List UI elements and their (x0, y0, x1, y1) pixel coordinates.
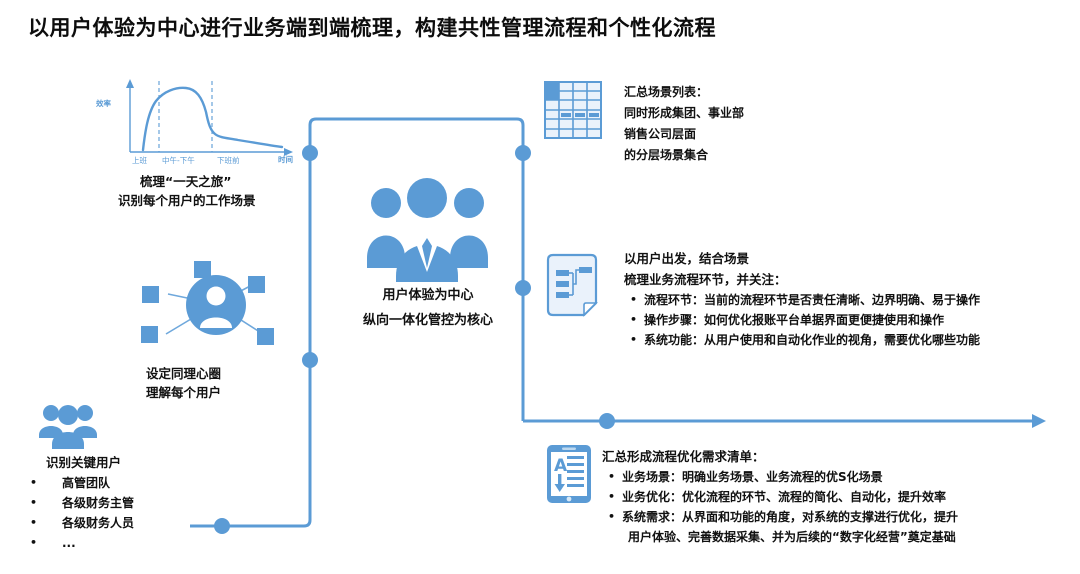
table-line-3: 的分层场景集合 (624, 145, 744, 166)
flow-item-1: 操作步骤：如何优化报账平台单据界面更便捷使用和操作 (644, 310, 944, 330)
key-user-3: ... (44, 533, 76, 553)
list-heading: 汇总形成流程优化需求清单： (602, 446, 958, 467)
node-dot-bottom (599, 413, 615, 429)
list-item-text-2: ：从界面和功能的角度，对系统的支撑进行优化，提升 (670, 507, 958, 527)
key-user-1: 各级财务主管 (44, 493, 134, 513)
bullet-icon: • (630, 330, 644, 350)
empathy-line2: 理解每个用户 (146, 383, 221, 402)
center-line2: 纵向一体化管控为核心 (330, 308, 526, 333)
node-dot-top-right (515, 145, 531, 161)
flowchart-document-icon (545, 253, 599, 321)
block-table-text: 汇总场景列表： 同时形成集团、事业部 销售公司层面 的分层场景集合 (624, 82, 744, 166)
key-users-heading: 识别关键用户 (30, 452, 134, 473)
list-item: • 操作步骤：如何优化报账平台单据界面更便捷使用和操作 (624, 310, 980, 330)
list-item: • ... (30, 533, 134, 553)
table-line-2: 销售公司层面 (624, 124, 744, 145)
empathy-caption: 设定同理心圈 理解每个用户 (146, 364, 221, 402)
team-people-icon (365, 176, 490, 288)
list-continuation: 用户体验、完善数据采集、并为后续的“数字化经营”奠定基础 (628, 527, 956, 547)
block-flow-text: 以用户出发，结合场景 梳理业务流程环节，并关注： • 流程环节：当前的流程环节是… (624, 248, 980, 350)
list-item: • 系统需求 ：从界面和功能的角度，对系统的支撑进行优化，提升 (602, 507, 958, 527)
bullet-icon: • (30, 513, 44, 533)
users-group-icon (38, 404, 98, 454)
list-item-label-1: 业务优化 (622, 487, 670, 507)
list-item: • 各级财务人员 (30, 513, 134, 533)
chart-caption-line1: 梳理“一天之旅” (118, 172, 256, 191)
list-item: • 业务场景 ：明确业务场景、业务流程的优S化场景 (602, 467, 958, 487)
list-item-label-2: 系统需求 (622, 507, 670, 527)
bullet-icon: • (30, 493, 44, 513)
efficiency-day-chart: 效率 时间 上班 中午-下午 下班前 (96, 72, 311, 167)
chart-caption: 梳理“一天之旅” 识别每个用户的工作场景 (118, 172, 256, 210)
empathy-circle-icon (126, 252, 306, 366)
empathy-line1: 设定同理心圈 (146, 364, 221, 383)
node-dot-bottom-left (214, 518, 230, 534)
spreadsheet-table-icon (544, 81, 602, 143)
bullet-icon: • (608, 487, 622, 507)
list-item: • 各级财务主管 (30, 493, 134, 513)
bullet-icon: • (30, 473, 44, 493)
list-item: • 业务优化 ：优化流程的环节、流程的简化、自动化，提升效率 (602, 487, 958, 507)
key-user-2: 各级财务人员 (44, 513, 134, 533)
chart-tick-1: 中午-下午 (162, 155, 195, 166)
center-line1: 用户体验为中心 (330, 283, 526, 308)
table-line-1: 同时形成集团、事业部 (624, 103, 744, 124)
list-item-label-0: 业务场景 (622, 467, 670, 487)
key-users-block: 识别关键用户 • 高管团队 • 各级财务主管 • 各级财务人员 • ... (30, 452, 134, 553)
flow-heading-1: 以用户出发，结合场景 (624, 248, 980, 269)
svg-text:A: A (554, 456, 568, 476)
list-item-text-1: ：优化流程的环节、流程的简化、自动化，提升效率 (670, 487, 946, 507)
bullet-icon: • (630, 290, 644, 310)
bullet-icon: • (630, 310, 644, 330)
center-caption: 用户体验为中心 纵向一体化管控为核心 (330, 283, 526, 333)
bullet-icon: • (608, 467, 622, 487)
list-item: • 流程环节：当前的流程环节是否责任清晰、边界明确、易于操作 (624, 290, 980, 310)
flow-item-2: 系统功能：从用户使用和自动化作业的视角，需要优化哪些功能 (644, 330, 980, 350)
list-item: • 系统功能：从用户使用和自动化作业的视角，需要优化哪些功能 (624, 330, 980, 350)
chart-tick-0: 上班 (132, 155, 147, 166)
chart-caption-line2: 识别每个用户的工作场景 (118, 191, 256, 210)
flow-item-0: 流程环节：当前的流程环节是否责任清晰、边界明确、易于操作 (644, 290, 980, 310)
list-item: • 高管团队 (30, 473, 134, 493)
chart-xlabel: 时间 (278, 154, 293, 165)
bullet-icon: • (608, 507, 622, 527)
bullet-icon: • (30, 533, 44, 553)
block-list-text: 汇总形成流程优化需求清单： • 业务场景 ：明确业务场景、业务流程的优S化场景 … (602, 446, 958, 547)
tablet-text-icon: A (546, 444, 592, 508)
chart-ylabel: 效率 (96, 98, 111, 109)
table-line-0: 汇总场景列表： (624, 82, 744, 103)
list-continuation-row: 用户体验、完善数据采集、并为后续的“数字化经营”奠定基础 (602, 527, 958, 547)
chart-tick-2: 下班前 (217, 155, 240, 166)
list-item-text-0: ：明确业务场景、业务流程的优S化场景 (670, 467, 883, 487)
key-user-0: 高管团队 (44, 473, 110, 493)
flow-heading-2: 梳理业务流程环节，并关注： (624, 269, 980, 290)
